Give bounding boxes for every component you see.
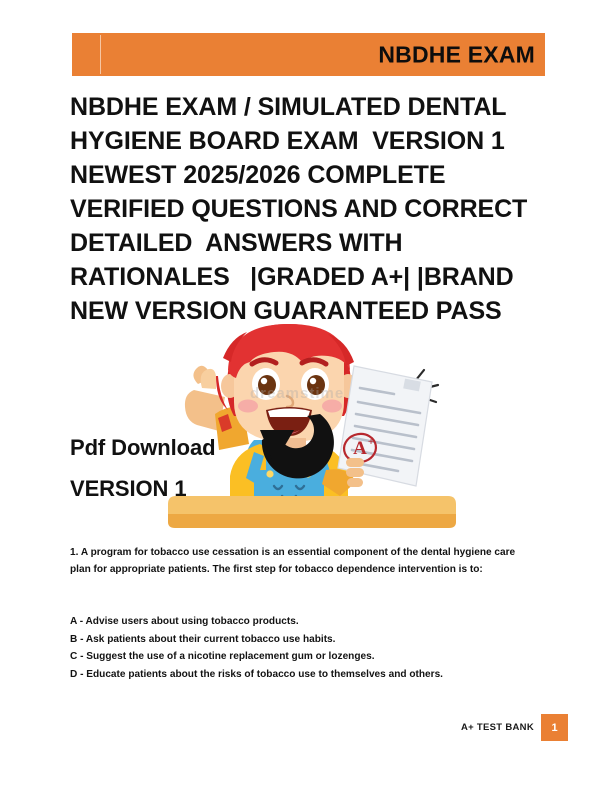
student-illustration: A + (168, 318, 458, 530)
desk (168, 496, 456, 528)
footer-brand-label: A+ TEST BANK (461, 722, 534, 733)
header-title: NBDHE EXAM (378, 41, 535, 68)
pdf-download-heading: Pdf Download (70, 435, 215, 461)
version-heading: VERSION 1 (70, 476, 186, 502)
right-hand (346, 458, 364, 487)
answer-option-c: C - Suggest the use of a nicotine replac… (70, 648, 532, 666)
answer-option-d: D - Educate patients about the risks of … (70, 666, 532, 684)
page-title: NBDHE EXAM / SIMULATED DENTAL HYGIENE BO… (70, 90, 540, 328)
question-text: 1. A program for tobacco use cessation i… (70, 545, 532, 578)
svg-text:A: A (353, 438, 367, 459)
answer-option-a: A - Advise users about using tobacco pro… (70, 613, 532, 631)
header-divider (100, 35, 101, 74)
svg-text:+: + (368, 436, 374, 448)
answer-options-list: A - Advise users about using tobacco pro… (70, 613, 532, 683)
page-number-badge: 1 (541, 714, 568, 741)
page-footer: A+ TEST BANK 1 (0, 714, 612, 744)
answer-option-b: B - Ask patients about their current tob… (70, 631, 532, 649)
document-page: NBDHE EXAM NBDHE EXAM / SIMULATED DENTAL… (0, 0, 612, 792)
header-band: NBDHE EXAM (72, 33, 545, 76)
